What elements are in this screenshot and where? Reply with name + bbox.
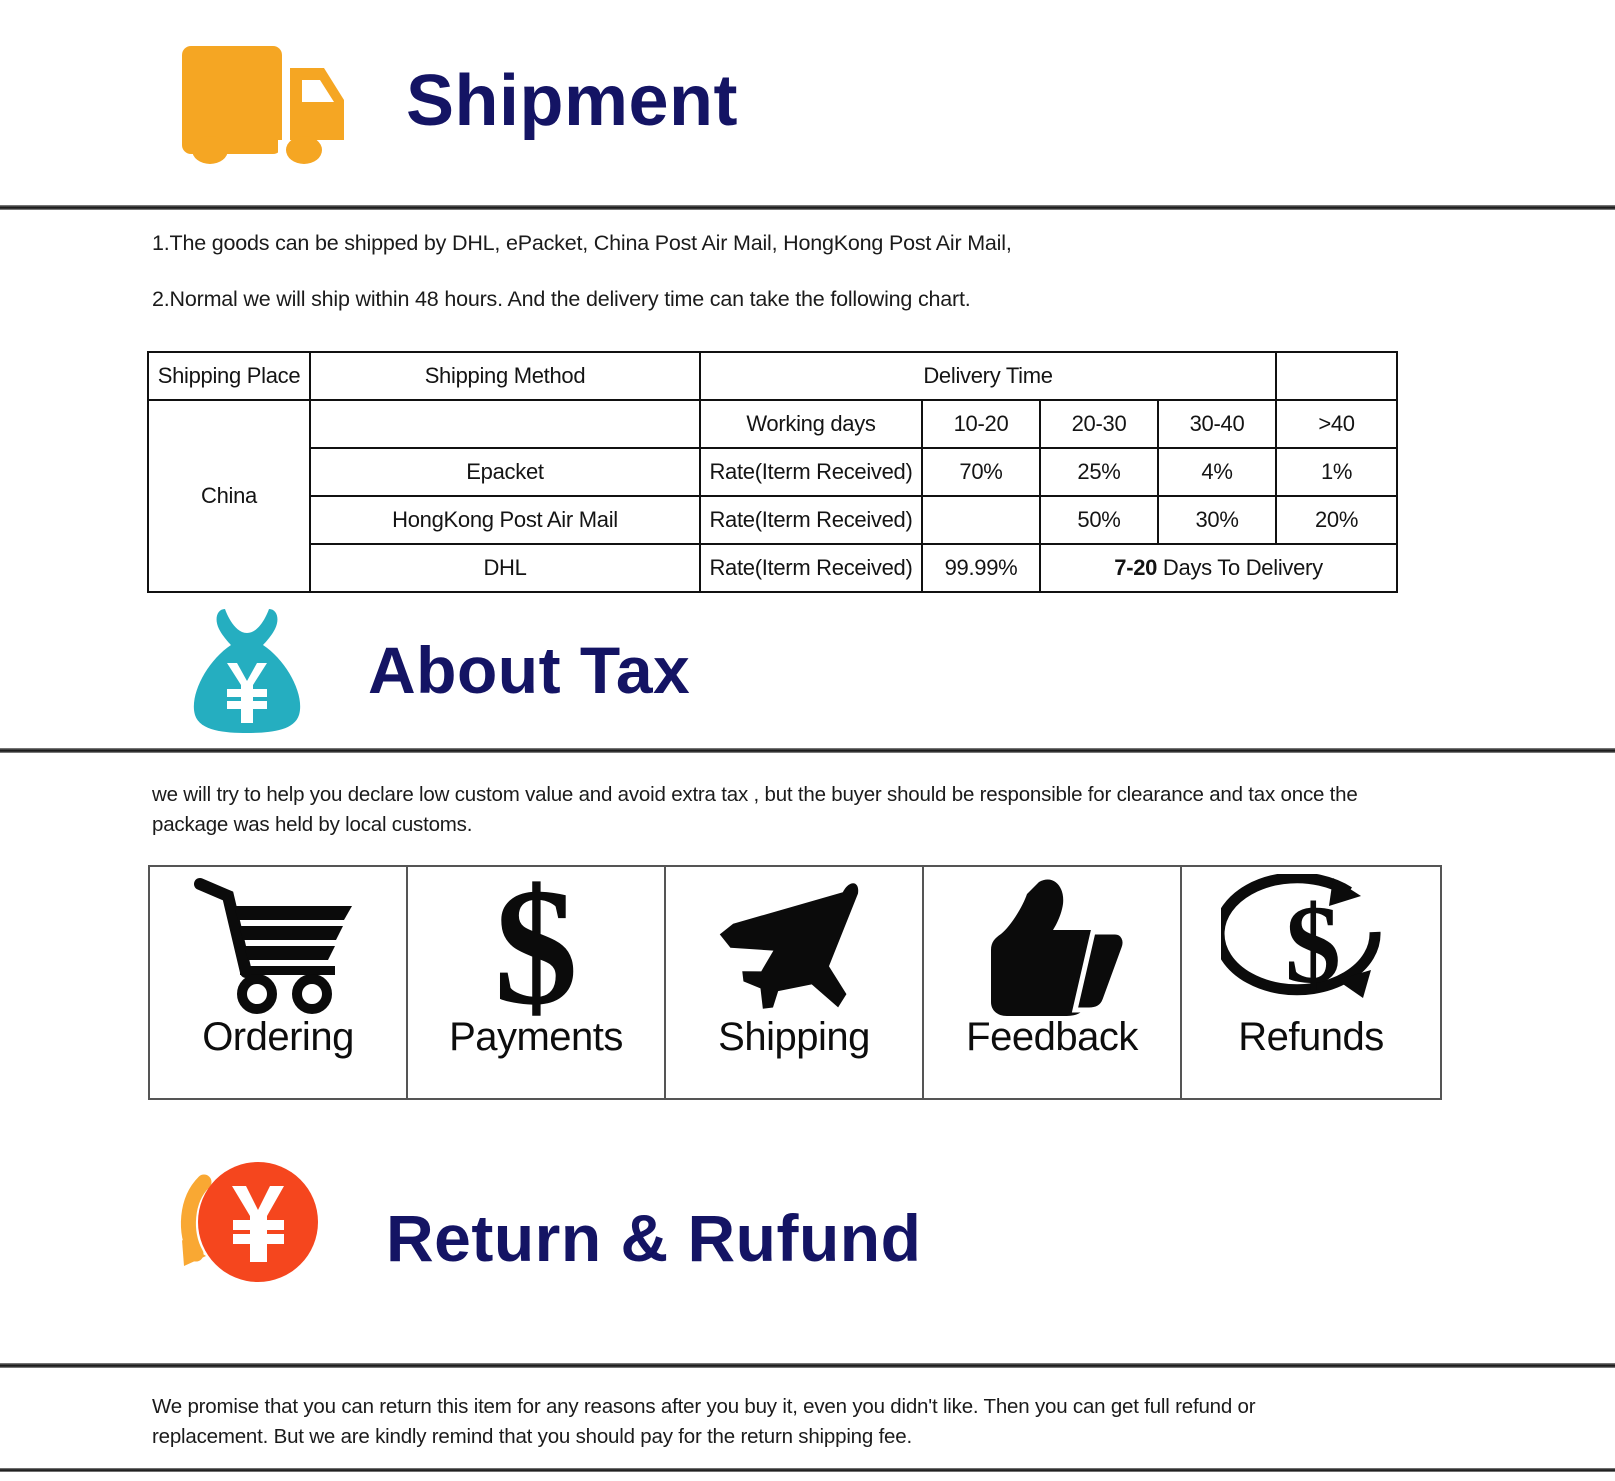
cell-method-dhl: DHL (310, 544, 700, 592)
th-delivery-time: Delivery Time (700, 352, 1276, 400)
table-row: China Working days 10-20 20-30 30-40 >40 (148, 400, 1397, 448)
shipment-line-1: 1.The goods can be shipped by DHL, ePack… (152, 231, 1012, 256)
service-label-ordering: Ordering (202, 1017, 354, 1057)
return-money-icon (172, 1160, 332, 1282)
cell-r2-merged: 7-20 Days To Delivery (1040, 544, 1397, 592)
refund-cycle-icon: $ (1182, 867, 1440, 1017)
service-box-refunds[interactable]: $ Refunds (1182, 867, 1440, 1098)
th-shipping-method: Shipping Method (310, 352, 700, 400)
service-label-refunds: Refunds (1238, 1017, 1383, 1057)
cell-method-blank (310, 400, 700, 448)
table-row: Shipping Place Shipping Method Delivery … (148, 352, 1397, 400)
service-label-shipping: Shipping (718, 1017, 870, 1057)
return-refund-paragraph: We promise that you can return this item… (152, 1392, 1372, 1452)
shipping-delivery-table: Shipping Place Shipping Method Delivery … (147, 351, 1398, 593)
service-boxes-row: Ordering $ Payments Shipping Feedback (148, 865, 1442, 1100)
merged-days-bold: 7-20 (1114, 555, 1157, 580)
service-box-feedback[interactable]: Feedback (924, 867, 1182, 1098)
table-row: HongKong Post Air Mail Rate(Iterm Receiv… (148, 496, 1397, 544)
about-tax-paragraph: we will try to help you declare low cust… (152, 780, 1402, 840)
table-row: DHL Rate(Iterm Received) 99.99% 7-20 Day… (148, 544, 1397, 592)
cell-range-3: >40 (1276, 400, 1397, 448)
th-corner-blank (1276, 352, 1397, 400)
service-label-payments: Payments (449, 1017, 623, 1057)
cell-working-days-label: Working days (700, 400, 922, 448)
divider-bottom (0, 1468, 1615, 1472)
cell-rate-label-2: Rate(Iterm Received) (700, 544, 922, 592)
service-box-shipping[interactable]: Shipping (666, 867, 924, 1098)
divider-shipment (0, 205, 1615, 210)
cell-range-0: 10-20 (922, 400, 1040, 448)
cell-r1-v1: 50% (1040, 496, 1158, 544)
thumbs-up-icon (924, 867, 1180, 1017)
service-box-payments[interactable]: $ Payments (408, 867, 666, 1098)
svg-text:$: $ (494, 871, 578, 1021)
cell-r0-v0: 70% (922, 448, 1040, 496)
cell-rate-label-0: Rate(Iterm Received) (700, 448, 922, 496)
table-row: Epacket Rate(Iterm Received) 70% 25% 4% … (148, 448, 1397, 496)
truck-icon (178, 42, 344, 164)
cell-r1-v0 (922, 496, 1040, 544)
return-refund-section-header: Return & Rufund (172, 1160, 921, 1282)
cell-r0-v2: 4% (1158, 448, 1276, 496)
about-tax-section-header: About Tax (185, 603, 690, 733)
dollar-sign-icon: $ (408, 867, 664, 1017)
divider-return-refund (0, 1363, 1615, 1368)
shipment-title: Shipment (406, 60, 738, 142)
svg-text:$: $ (1285, 883, 1341, 1007)
cell-range-2: 30-40 (1158, 400, 1276, 448)
money-bag-icon (185, 603, 310, 733)
cell-rate-label-1: Rate(Iterm Received) (700, 496, 922, 544)
merged-days-rest: Days To Delivery (1157, 555, 1323, 580)
shipment-line-2: 2.Normal we will ship within 48 hours. A… (152, 287, 971, 312)
cell-r2-v0: 99.99% (922, 544, 1040, 592)
divider-about-tax (0, 748, 1615, 753)
cell-shipping-place-china: China (148, 400, 310, 592)
cell-r1-v2: 30% (1158, 496, 1276, 544)
service-label-feedback: Feedback (966, 1017, 1138, 1057)
cell-r0-v3: 1% (1276, 448, 1397, 496)
cell-r1-v3: 20% (1276, 496, 1397, 544)
return-refund-title: Return & Rufund (386, 1200, 921, 1276)
service-box-ordering[interactable]: Ordering (150, 867, 408, 1098)
cell-method-epacket: Epacket (310, 448, 700, 496)
cell-method-hkpost: HongKong Post Air Mail (310, 496, 700, 544)
shopping-cart-icon (150, 867, 406, 1017)
airplane-icon (666, 867, 922, 1017)
th-shipping-place: Shipping Place (148, 352, 310, 400)
cell-range-1: 20-30 (1040, 400, 1158, 448)
cell-r0-v1: 25% (1040, 448, 1158, 496)
shipment-section-header: Shipment (178, 42, 738, 164)
about-tax-title: About Tax (368, 632, 690, 708)
